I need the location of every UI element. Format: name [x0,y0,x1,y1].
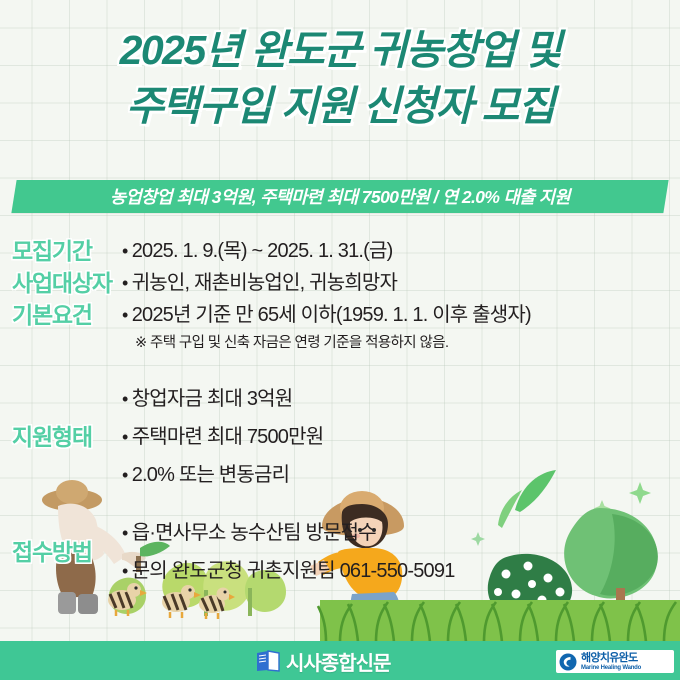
grass-strip [318,600,680,642]
news-logo-text: 시사종합신문 [286,647,390,676]
bullet-item: 창업자금 최대 3억원 [122,380,680,418]
wave-circle-icon [559,653,577,671]
row-basic-requirements: 기본요건 2025년 기준 만 65세 이하(1959. 1. 1. 이후 출생… [0,300,680,356]
wando-name-en: Marine Healing Wando [581,665,641,671]
bullet-item: 2025년 기준 만 65세 이하(1959. 1. 1. 이후 출생자) [122,300,680,330]
wando-name-kr: 해양치유완도 [581,653,641,664]
news-logo[interactable]: 시사종합신문 [255,648,390,674]
title-line-2: 주택구입 지원 신청자 모집 [0,78,680,134]
values-basic-requirements: 2025년 기준 만 65세 이하(1959. 1. 1. 이후 출생자) ※ … [122,300,680,356]
wando-logo[interactable]: 해양치유완도 Marine Healing Wando [556,650,674,673]
basic-info-group: 모집기간 2025. 1. 9.(목) ~ 2025. 1. 31.(금) 사업… [0,236,680,356]
title-line-1: 2025년 완도군 귀농창업 및 [0,22,680,78]
label-recruitment-period: 모집기간 [0,236,122,266]
open-book-icon [255,649,281,673]
bullet-item: 귀농인, 재촌비농업인, 귀농희망자 [122,268,680,298]
values-support-type: 창업자금 최대 3억원 주택마련 최대 7500만원 2.0% 또는 변동금리 [122,380,680,494]
values-eligible-applicants: 귀농인, 재촌비농업인, 귀농희망자 [122,268,680,298]
values-application-method: 읍·면사무소 농수산팀 방문접수 문의 완도군청 귀촌지원팀 061-550-5… [122,514,680,590]
row-eligible-applicants: 사업대상자 귀농인, 재촌비농업인, 귀농희망자 [0,268,680,298]
highlight-banner-text: 농업창업 최대 3억원, 주택마련 최대 7500만원 / 연 2.0% 대출 … [14,180,666,213]
bullet-item: 주택마련 최대 7500만원 [122,418,680,456]
bullet-item: 읍·면사무소 농수산팀 방문접수 [122,514,680,552]
row-support-type: 지원형태 창업자금 최대 3억원 주택마련 최대 7500만원 2.0% 또는 … [0,380,680,494]
requirement-note: ※ 주택 구입 및 신축 자금은 연령 기준을 적용하지 않음. [122,330,680,356]
wando-logo-text: 해양치유완도 Marine Healing Wando [581,653,641,671]
row-recruitment-period: 모집기간 2025. 1. 9.(목) ~ 2025. 1. 31.(금) [0,236,680,266]
values-recruitment-period: 2025. 1. 9.(목) ~ 2025. 1. 31.(금) [122,236,680,266]
details-section: 모집기간 2025. 1. 9.(목) ~ 2025. 1. 31.(금) 사업… [0,236,680,590]
label-application-method: 접수방법 [0,537,122,567]
poster-canvas: 2025년 완도군 귀농창업 및 주택구입 지원 신청자 모집 농업창업 최대 … [0,0,680,680]
label-eligible-applicants: 사업대상자 [0,268,122,298]
label-support-type: 지원형태 [0,422,122,452]
page-title: 2025년 완도군 귀농창업 및 주택구입 지원 신청자 모집 [0,22,680,134]
row-application-method: 접수방법 읍·면사무소 농수산팀 방문접수 문의 완도군청 귀촌지원팀 061-… [0,514,680,590]
bullet-item: 2025. 1. 9.(목) ~ 2025. 1. 31.(금) [122,236,680,266]
bullet-item: 문의 완도군청 귀촌지원팀 061-550-5091 [122,552,680,590]
label-basic-requirements: 기본요건 [0,300,122,330]
bullet-item: 2.0% 또는 변동금리 [122,456,680,494]
